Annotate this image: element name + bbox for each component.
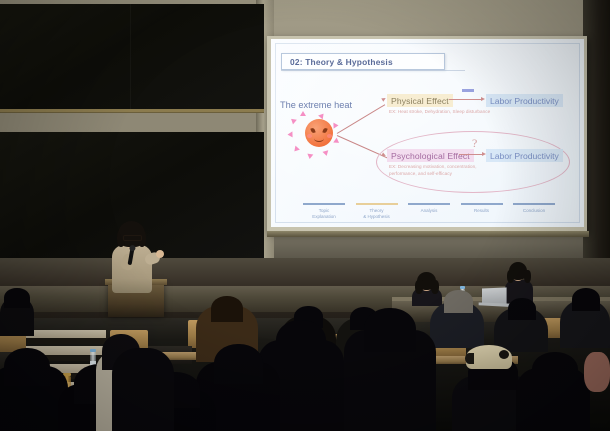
laptop (482, 287, 507, 304)
nav-item-theory-hypothesis: Theory & Hypothesis (354, 203, 400, 221)
negative-sign-marker (462, 89, 474, 92)
audience-head (572, 288, 600, 311)
audience-head (508, 298, 536, 320)
audience-head (364, 308, 416, 352)
psychological-effect-box: Psychological Effect (387, 149, 474, 162)
cap-brim (465, 353, 474, 364)
presenter (104, 223, 164, 293)
physical-effect-box: Physical Effect (387, 94, 453, 107)
nav-bar-analysis (408, 203, 450, 205)
blackboard-upper (0, 4, 264, 112)
arrow-physical-to-outcome (449, 99, 482, 100)
nav-item-conclusion: Conclusion (511, 203, 557, 221)
right-dark-wall (583, 0, 610, 300)
nav-label-topic-explanation: Topic Explanation (301, 208, 347, 222)
slide-title-box: 02: Theory & Hypothesis (281, 53, 445, 70)
audience-head-long-hair (532, 352, 578, 388)
labor-productivity-box-bottom: Labor Productivity (486, 149, 563, 162)
projected-slide: 02: Theory & Hypothesis The extreme heat (271, 39, 584, 227)
lecture-hall-photo: 02: Theory & Hypothesis The extreme heat (0, 0, 610, 431)
presenter-hair (118, 221, 145, 247)
audience-head (4, 288, 30, 308)
slide-title-text: 02: Theory & Hypothesis (290, 57, 393, 67)
nav-item-topic-explanation: Topic Explanation (301, 203, 347, 221)
labor-productivity-box-top: Labor Productivity (486, 94, 563, 107)
baseball-cap (466, 345, 512, 369)
audience-head-long-hair (276, 320, 326, 362)
nav-label-results: Results (459, 208, 505, 215)
nav-bar-topic-explanation (303, 203, 345, 205)
audience-member-front (112, 348, 174, 431)
audience-head (214, 344, 263, 384)
audience-head (211, 296, 243, 322)
nav-label-analysis: Analysis (406, 208, 452, 215)
nav-bar-results (461, 203, 503, 205)
cap-strap (499, 350, 509, 359)
nav-bar-conclusion (513, 203, 555, 205)
presenter-right-hand (156, 250, 164, 258)
physical-examples-note: EX: Heat stroke, Dehydration, Sleep dist… (389, 109, 490, 116)
nav-item-analysis: Analysis (406, 203, 452, 221)
title-underline (281, 70, 465, 71)
nav-label-conclusion: Conclusion (511, 208, 557, 215)
slide-section-nav: Topic Explanation Theory & Hypothesis An… (301, 203, 557, 221)
arrow-physical-arrowhead (481, 97, 485, 101)
presenter-glasses (123, 235, 142, 241)
audience-head-grey (444, 290, 473, 313)
nav-label-theory-hypothesis: Theory & Hypothesis (354, 208, 400, 222)
panelist-left (412, 272, 442, 306)
question-mark-annotation: ? (472, 136, 477, 151)
nav-bar-theory-hypothesis (356, 203, 398, 205)
extreme-heat-label: The extreme heat (280, 100, 352, 110)
psychological-examples-note: EX: Decreasing motivation, concentration… (389, 164, 477, 177)
audience-head (4, 348, 50, 386)
audience-shoulder (584, 352, 610, 392)
nav-item-results: Results (459, 203, 505, 221)
arrow-psychological-to-outcome (459, 154, 483, 155)
